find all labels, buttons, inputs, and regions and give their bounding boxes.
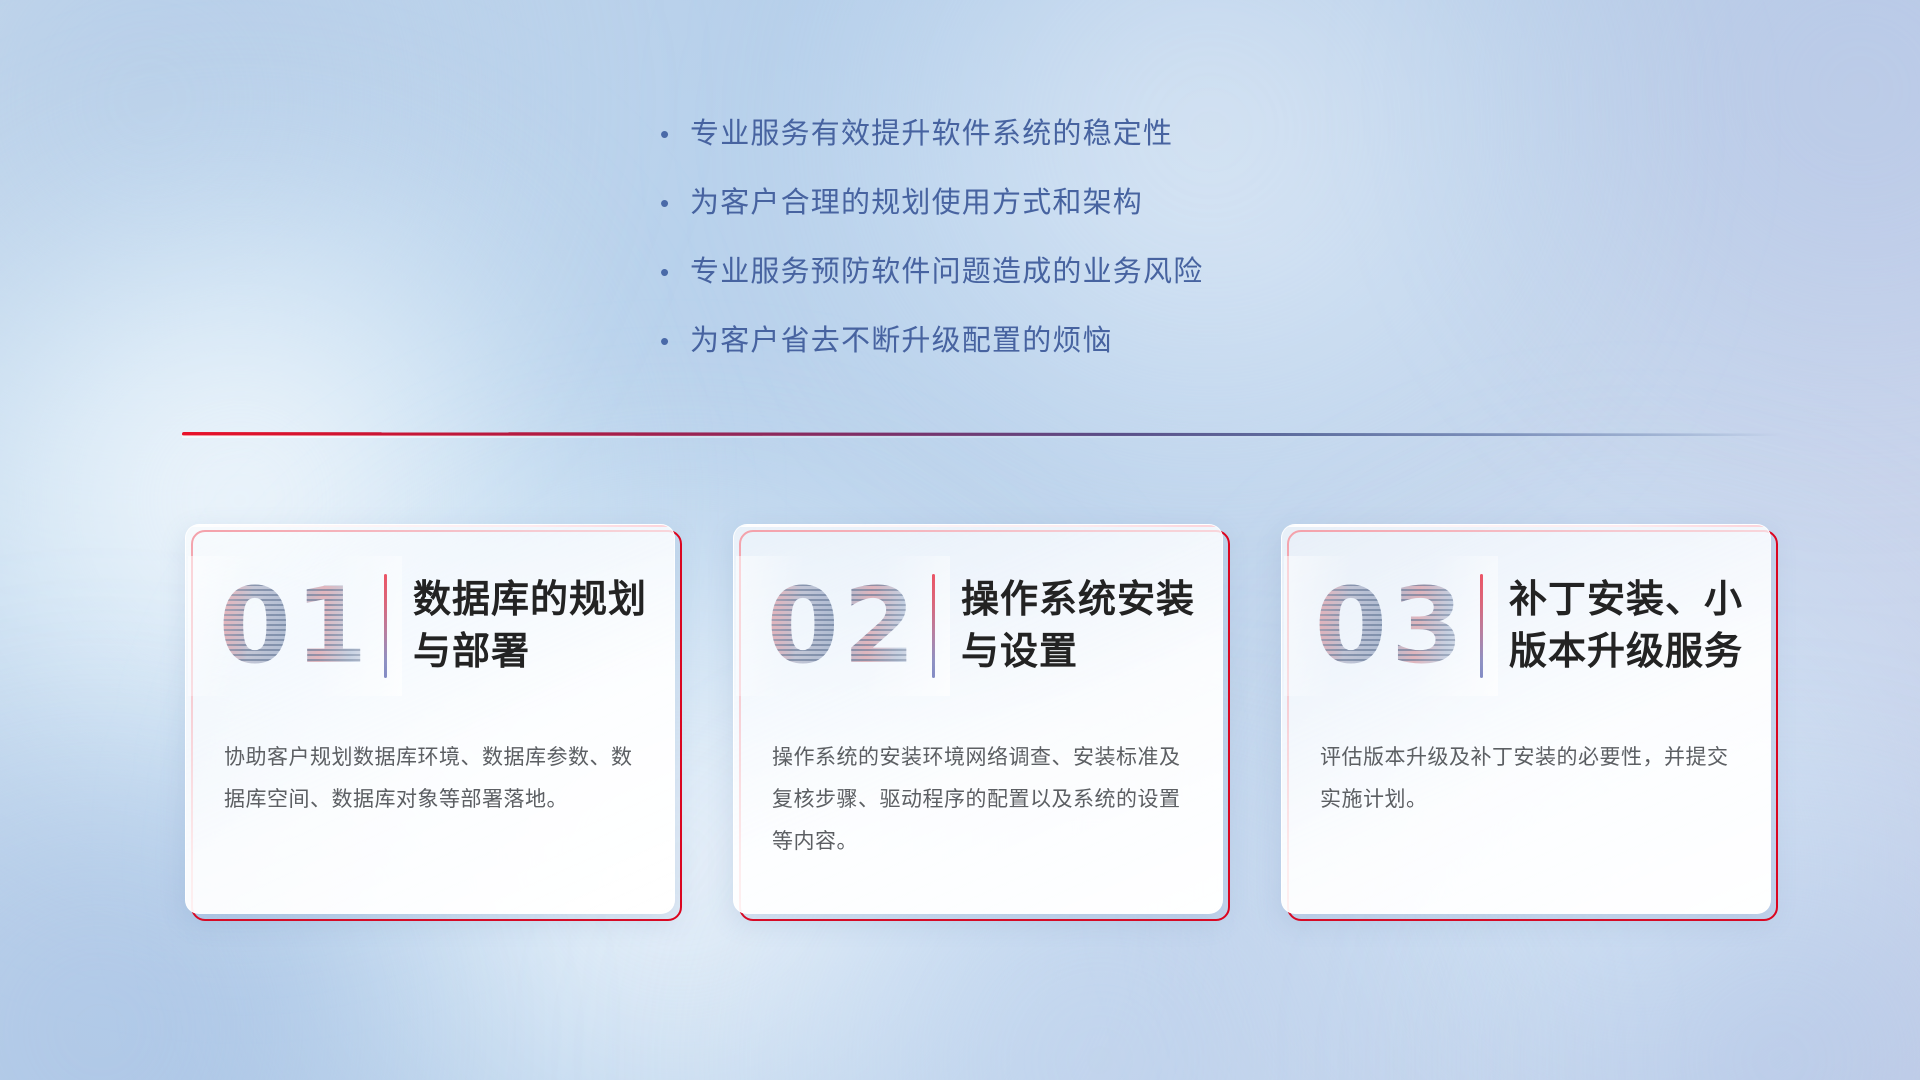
card-title-divider-bar	[1480, 574, 1483, 678]
card-title-divider-bar	[932, 574, 935, 678]
bullet-marker-icon: •	[660, 116, 690, 152]
card-surface: 01 数据库的规划 与部署 协助客户规划数据库环境、数据库参数、数据库空间、数据…	[185, 524, 675, 914]
list-item: • 专业服务预防软件问题造成的业务风险	[660, 254, 1420, 290]
card-header: 02 操作系统安装 与设置	[734, 525, 1222, 727]
card-header: 03 补丁安装、小 版本升级服务	[1282, 525, 1770, 727]
bullet-text: 为客户合理的规划使用方式和架构	[690, 185, 1143, 221]
slide-canvas: • 专业服务有效提升软件系统的稳定性 • 为客户合理的规划使用方式和架构 • 专…	[0, 0, 1920, 1080]
card-title-line-1: 补丁安装、小	[1509, 574, 1754, 626]
card-title: 补丁安装、小 版本升级服务	[1509, 574, 1770, 678]
card-title: 数据库的规划 与部署	[413, 574, 674, 678]
card-title-line-2: 版本升级服务	[1509, 626, 1754, 678]
bullet-marker-icon: •	[660, 254, 690, 290]
service-card-02[interactable]: 02 操作系统安装 与设置 操作系统的安装环境网络调查、安装标准及复核步骤、驱动…	[733, 524, 1223, 914]
list-item: • 为客户合理的规划使用方式和架构	[660, 185, 1420, 221]
card-header: 01 数据库的规划 与部署	[186, 525, 674, 727]
card-number: 01	[219, 574, 372, 678]
card-body-text: 评估版本升级及补丁安装的必要性，并提交实施计划。	[1320, 737, 1736, 821]
card-body-text: 操作系统的安装环境网络调查、安装标准及复核步骤、驱动程序的配置以及系统的设置等内…	[772, 737, 1188, 863]
card-title-divider-bar	[384, 574, 387, 678]
bullet-text: 专业服务有效提升软件系统的稳定性	[690, 116, 1173, 152]
card-title-line-1: 数据库的规划	[413, 574, 658, 626]
card-surface: 02 操作系统安装 与设置 操作系统的安装环境网络调查、安装标准及复核步骤、驱动…	[733, 524, 1223, 914]
bullet-text: 为客户省去不断升级配置的烦恼	[690, 323, 1113, 359]
service-card-01[interactable]: 01 数据库的规划 与部署 协助客户规划数据库环境、数据库参数、数据库空间、数据…	[185, 524, 675, 914]
card-body-text: 协助客户规划数据库环境、数据库参数、数据库空间、数据库对象等部署落地。	[224, 737, 640, 821]
card-title-line-1: 操作系统安装	[961, 574, 1206, 626]
card-surface: 03 补丁安装、小 版本升级服务 评估版本升级及补丁安装的必要性，并提交实施计划…	[1281, 524, 1771, 914]
card-number-watermark: 01	[206, 566, 384, 686]
card-title-line-2: 与部署	[413, 626, 658, 678]
service-card-03[interactable]: 03 补丁安装、小 版本升级服务 评估版本升级及补丁安装的必要性，并提交实施计划…	[1281, 524, 1771, 914]
card-number-watermark: 03	[1302, 566, 1480, 686]
card-number: 02	[767, 574, 920, 678]
list-item: • 为客户省去不断升级配置的烦恼	[660, 323, 1420, 359]
service-card-row: 01 数据库的规划 与部署 协助客户规划数据库环境、数据库参数、数据库空间、数据…	[185, 524, 1771, 914]
bullet-text: 专业服务预防软件问题造成的业务风险	[690, 254, 1203, 290]
section-divider	[182, 425, 1782, 445]
card-title: 操作系统安装 与设置	[961, 574, 1222, 678]
card-number-watermark: 02	[754, 566, 932, 686]
bullet-marker-icon: •	[660, 185, 690, 221]
bullet-marker-icon: •	[660, 323, 690, 359]
benefits-bullet-list: • 专业服务有效提升软件系统的稳定性 • 为客户合理的规划使用方式和架构 • 专…	[660, 116, 1420, 392]
list-item: • 专业服务有效提升软件系统的稳定性	[660, 116, 1420, 152]
card-number: 03	[1315, 574, 1468, 678]
card-title-line-2: 与设置	[961, 626, 1206, 678]
